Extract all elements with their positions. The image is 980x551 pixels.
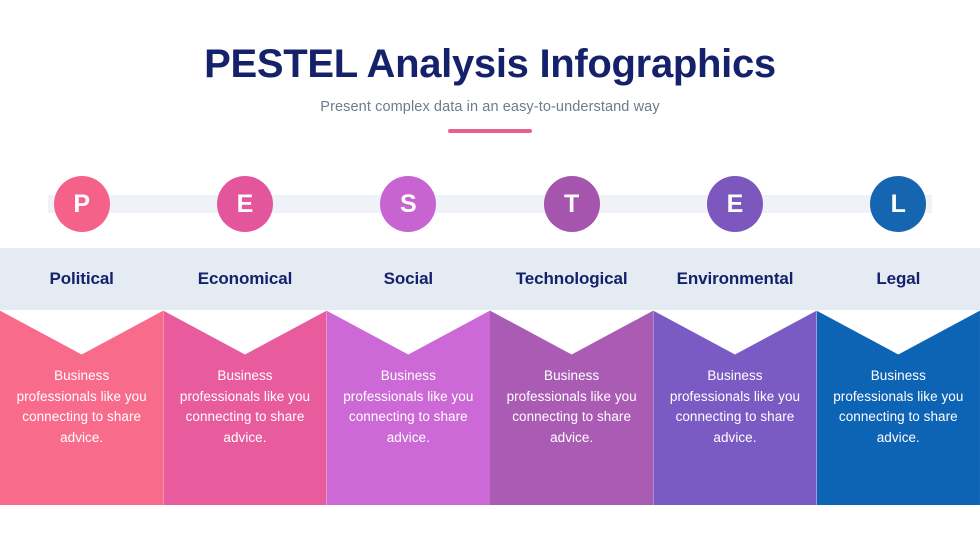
step-panel-text: Business professionals like you connecti… [163,366,326,448]
step-circle-letter: S [400,192,417,217]
step-circle-environmental[interactable]: E [707,176,763,232]
step-panel-legal[interactable]: Business professionals like you connecti… [817,296,980,505]
step-circle-social[interactable]: S [380,176,436,232]
step-panel-text: Business professionals like you connecti… [490,366,653,448]
circle-cell-political: P [0,160,163,248]
step-panel-technological[interactable]: Business professionals like you connecti… [490,296,653,505]
step-panel-economical[interactable]: Business professionals like you connecti… [163,296,326,505]
title-accent-rule [448,129,532,133]
step-panel-text: Business professionals like you connecti… [0,366,163,448]
step-panel-row: Business professionals like you connecti… [0,296,980,505]
step-label-legal: Legal [876,269,920,289]
step-panel-environmental[interactable]: Business professionals like you connecti… [653,296,816,505]
step-circle-row: P E S T E [0,160,980,248]
step-circle-letter: E [727,192,744,217]
step-circles: P E S T E [0,160,980,248]
step-label-economical: Economical [198,269,292,289]
step-panel-text: Business professionals like you connecti… [653,366,816,448]
step-circle-technological[interactable]: T [544,176,600,232]
step-label-social: Social [384,269,433,289]
page-subtitle: Present complex data in an easy-to-under… [0,87,980,115]
step-label-environmental: Environmental [677,269,794,289]
step-label-political: Political [50,269,114,289]
step-circle-letter: E [237,192,254,217]
page-title: PESTEL Analysis Infographics [0,0,980,87]
circle-cell-legal: L [817,160,980,248]
circle-cell-social: S [327,160,490,248]
step-circle-letter: L [891,192,906,217]
step-circle-economical[interactable]: E [217,176,273,232]
step-circle-letter: P [73,192,90,217]
step-panel-text: Business professionals like you connecti… [817,366,980,448]
step-panel-social[interactable]: Business professionals like you connecti… [327,296,490,505]
circle-cell-environmental: E [653,160,816,248]
step-circle-political[interactable]: P [54,176,110,232]
step-circle-legal[interactable]: L [870,176,926,232]
circle-cell-technological: T [490,160,653,248]
step-panel-text: Business professionals like you connecti… [327,366,490,448]
pestel-infographic-slide: PESTEL Analysis Infographics Present com… [0,0,980,551]
step-circle-letter: T [564,192,579,217]
slide-header: PESTEL Analysis Infographics Present com… [0,0,980,133]
circle-cell-economical: E [163,160,326,248]
step-label-technological: Technological [516,269,628,289]
step-panel-political[interactable]: Business professionals like you connecti… [0,296,163,505]
